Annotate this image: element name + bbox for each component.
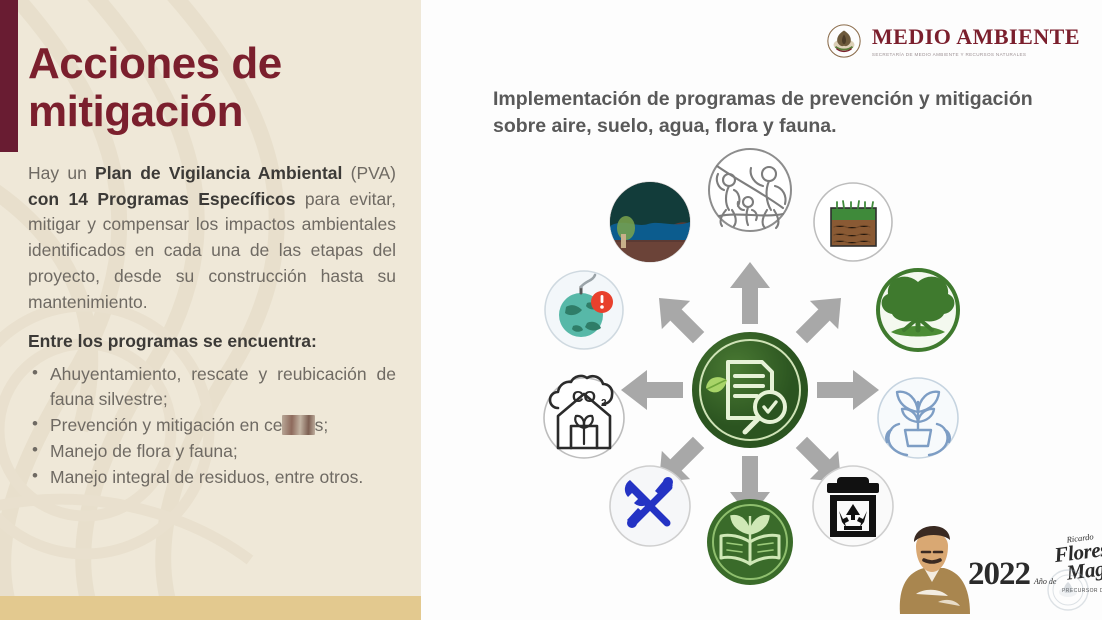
redacted-word: niza [282, 415, 314, 435]
node-wildlife-monkeys-icon [709, 149, 791, 231]
node-tree-icon [878, 270, 958, 350]
brand-title: MEDIO AMBIENTE [872, 26, 1080, 48]
node-globe-alert-icon [545, 271, 623, 349]
list-item-text: s; [315, 415, 329, 435]
node-hands-plant-icon [878, 378, 958, 458]
list-item: Manejo integral de residuos, entre otros… [28, 465, 396, 490]
paragraph-bold-run: Plan de Vigilancia Ambiental [95, 163, 342, 183]
left-text-block: Acciones de mitigación Hay un Plan de Vi… [28, 40, 396, 491]
paragraph-run: Hay un [28, 163, 95, 183]
brand-subtitle: SECRETARÍA DE MEDIO AMBIENTE Y RECURSOS … [872, 52, 1080, 57]
accent-bar [0, 0, 18, 152]
list-item: Ahuyentamiento, rescate y reubicación de… [28, 362, 396, 412]
list-heading: Entre los programas se encuentra: [28, 331, 396, 352]
paragraph-run: (PVA) [342, 163, 396, 183]
ricardo-flores-magon-portrait-icon [886, 510, 978, 614]
node-recycling-bin-icon [813, 466, 893, 546]
program-bullet-list: Ahuyentamiento, rescate y reubicación de… [28, 362, 396, 489]
svg-text:CO: CO [572, 389, 596, 406]
commemorative-year: 2022 Año de [968, 560, 1056, 588]
government-seal-watermark-icon [1046, 568, 1090, 612]
brand-text: MEDIO AMBIENTE SECRETARÍA DE MEDIO AMBIE… [872, 26, 1080, 57]
list-item: Manejo de flora y fauna; [28, 439, 396, 464]
node-cave-water-photo-icon [610, 182, 690, 262]
right-content-panel: MEDIO AMBIENTE SECRETARÍA DE MEDIO AMBIE… [421, 0, 1102, 620]
node-tools-icon [610, 466, 690, 546]
page-title: Acciones de mitigación [28, 40, 396, 135]
left-content-panel: Acciones de mitigación Hay un Plan de Vi… [0, 0, 421, 620]
list-item-text: Prevención y mitigación en ce [50, 415, 282, 435]
commemorative-logo: 2022 Año de Ricardo Flores Magón PRECURS… [886, 508, 1098, 614]
mexican-eagle-seal-icon [825, 22, 863, 60]
node-soil-layers-icon [814, 183, 892, 261]
node-co2-house-leaf-icon: CO 2 [544, 376, 624, 458]
svg-text:2: 2 [601, 398, 607, 409]
paragraph-bold-run: con 14 Programas Específicos [28, 189, 295, 209]
hub-document-leaf-magnifier-icon [692, 332, 808, 448]
node-book-plant-education-icon [707, 499, 793, 585]
list-item: Prevención y mitigación en cenizas; [28, 413, 396, 438]
bottom-gold-strip [0, 596, 421, 620]
brand-logo: MEDIO AMBIENTE SECRETARÍA DE MEDIO AMBIE… [825, 22, 1080, 60]
year-number: 2022 [968, 560, 1030, 588]
body-paragraph: Hay un Plan de Vigilancia Ambiental (PVA… [28, 161, 396, 315]
